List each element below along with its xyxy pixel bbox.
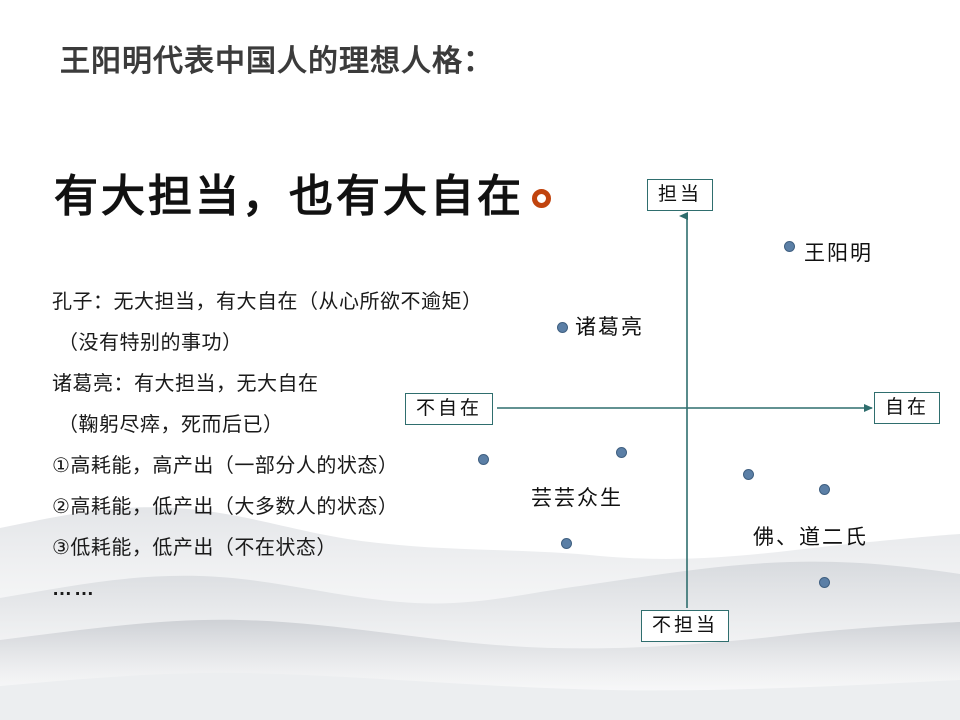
body-line-8: ……: [52, 569, 572, 610]
scatter-point: [616, 447, 627, 458]
body-line-7: ③低耗能，低产出（不在状态）: [52, 528, 572, 569]
scatter-point: [561, 538, 572, 549]
scatter-point: [478, 454, 489, 465]
scatter-point: [743, 469, 754, 480]
scatter-point: [557, 322, 568, 333]
body-line-2: （没有特别的事功）: [52, 323, 572, 364]
body-line-4: （鞠躬尽瘁，死而后已）: [52, 405, 572, 446]
point-label: 佛、道二氏: [753, 521, 868, 551]
body-line-3: 诸葛亮：有大担当，无大自在: [52, 364, 572, 405]
body-line-6: ②高耗能，低产出（大多数人的状态）: [52, 487, 572, 528]
subtitle: 有大担当，也有大自在: [54, 160, 551, 224]
slide-canvas: 王阳明代表中国人的理想人格： 有大担当，也有大自在 孔子：无大担当，有大自在（从…: [0, 0, 960, 720]
axis-label-left: 不自在: [405, 393, 493, 425]
point-label: 诸葛亮: [575, 311, 644, 341]
axis-label-bottom: 不担当: [641, 610, 729, 642]
axis-label-right: 自在: [874, 392, 940, 424]
body-text-block: 孔子：无大担当，有大自在（从心所欲不逾矩） （没有特别的事功） 诸葛亮：有大担当…: [52, 282, 572, 610]
scatter-point: [819, 484, 830, 495]
point-label: 王阳明: [804, 237, 873, 267]
scatter-point: [784, 241, 795, 252]
point-label: 芸芸众生: [531, 482, 623, 512]
body-line-5: ①高耗能，高产出（一部分人的状态）: [52, 446, 572, 487]
axis-label-top: 担当: [647, 179, 713, 211]
scatter-point: [819, 577, 830, 588]
subtitle-text: 有大担当，也有大自在: [54, 160, 524, 224]
accent-period-icon: [532, 189, 551, 208]
body-line-1: 孔子：无大担当，有大自在（从心所欲不逾矩）: [52, 282, 572, 323]
page-title: 王阳明代表中国人的理想人格：: [60, 36, 494, 80]
